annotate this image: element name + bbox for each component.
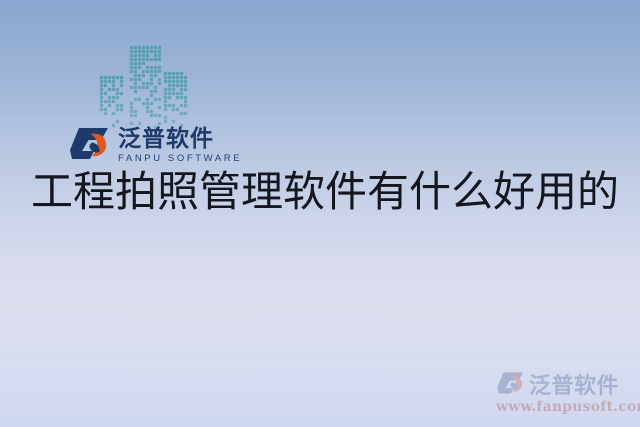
fanpu-hexagon-logo-icon: [68, 126, 112, 164]
brand-name-cn: 泛普软件: [118, 127, 242, 150]
brand-logo: 泛普软件 FANPU SOFTWARE: [68, 123, 242, 167]
promo-banner: 泛普软件 FANPU SOFTWARE 工程拍照管理软件有什么好用的 泛普软件 …: [0, 0, 640, 427]
page-title: 工程拍照管理软件有什么好用的: [31, 168, 611, 217]
skyline-canvas: [96, 36, 188, 130]
brand-wordmark: 泛普软件 FANPU SOFTWARE: [118, 127, 242, 164]
watermark: 泛普软件 www.fanpusoft.com: [496, 370, 626, 415]
brand-name-en: FANPU SOFTWARE: [118, 154, 242, 164]
watermark-logo-row: 泛普软件: [496, 370, 626, 398]
watermark-url: www.fanpusoft.com: [496, 399, 626, 415]
watermark-brand-name: 泛普软件: [529, 368, 619, 400]
pixel-mosaic-buildings-icon: [96, 36, 188, 130]
fanpu-hexagon-logo-icon: [496, 371, 526, 397]
